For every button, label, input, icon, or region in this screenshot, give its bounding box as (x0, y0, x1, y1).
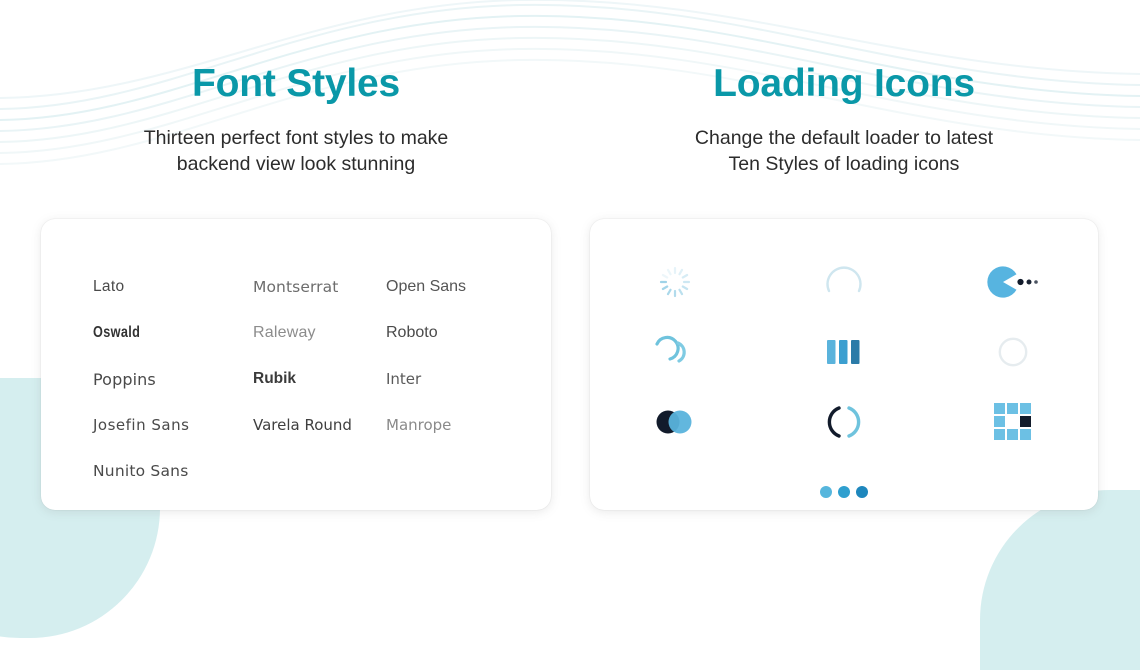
subtitle-line-1: Thirteen perfect font styles to make (144, 127, 449, 149)
font-styles-card: Lato Montserrat Open Sans Oswald Raleway… (41, 219, 551, 510)
grid-tiles-spinner-glyph (994, 403, 1032, 441)
tick-spinner-glyph (658, 265, 692, 299)
font-item-rubik[interactable]: Rubik (253, 370, 386, 388)
font-item-oswald[interactable]: Oswald (93, 324, 224, 342)
subtitle-line-2: Ten Styles of loading icons (729, 153, 960, 175)
font-item-josefin-sans[interactable]: Josefin Sans (93, 416, 253, 434)
page-root: Font Styles Thirteen perfect font styles… (0, 0, 1140, 578)
font-item-manrope[interactable]: Manrope (386, 416, 551, 434)
subtitle-loading-icons: Change the default loader to latest Ten … (590, 125, 1098, 178)
font-item-raleway[interactable]: Raleway (253, 324, 386, 342)
font-item-nunito-sans[interactable]: Nunito Sans (93, 462, 253, 480)
loading-icons-grid (590, 219, 1098, 527)
page-title-font-styles: Font Styles (41, 62, 551, 107)
font-item-poppins[interactable]: Poppins (93, 370, 253, 389)
circle-outline-spinner-glyph (996, 335, 1030, 369)
section-loading-icons: Loading Icons Change the default loader … (590, 0, 1098, 177)
font-item-open-sans[interactable]: Open Sans (386, 278, 551, 296)
loading-icons-card (590, 219, 1098, 510)
facing-arcs-spinner-icon[interactable] (809, 387, 879, 457)
font-item-varela-round[interactable]: Varela Round (253, 416, 386, 434)
three-bars-spinner-glyph (824, 335, 864, 369)
facing-arcs-spinner-glyph (822, 403, 866, 441)
section-font-styles: Font Styles Thirteen perfect font styles… (41, 0, 551, 177)
three-bars-spinner-icon[interactable] (809, 317, 879, 387)
subtitle-font-styles: Thirteen perfect font styles to make bac… (41, 125, 551, 178)
dual-crescent-spinner-icon[interactable] (640, 317, 710, 387)
font-item-montserrat[interactable]: Montserrat (253, 278, 386, 296)
font-item-lato[interactable]: Lato (93, 278, 253, 296)
overlapping-circles-spinner-icon[interactable] (640, 387, 710, 457)
three-dots-spinner-glyph (818, 482, 870, 502)
page-title-loading-icons: Loading Icons (590, 62, 1098, 107)
font-item-inter[interactable]: Inter (386, 370, 551, 388)
dual-crescent-spinner-glyph (651, 335, 699, 369)
circle-outline-spinner-icon[interactable] (978, 317, 1048, 387)
arc-ring-spinner-glyph (824, 262, 864, 302)
overlapping-circles-spinner-glyph (651, 405, 699, 439)
pacman-dots-spinner-icon[interactable] (978, 247, 1048, 317)
grid-tiles-spinner-icon[interactable] (978, 387, 1048, 457)
subtitle-line-1: Change the default loader to latest (695, 127, 993, 149)
three-dots-spinner-icon[interactable] (809, 457, 879, 527)
tick-spinner-icon[interactable] (640, 247, 710, 317)
subtitle-line-2: backend view look stunning (177, 153, 416, 175)
font-item-roboto[interactable]: Roboto (386, 324, 551, 342)
font-list-grid: Lato Montserrat Open Sans Oswald Raleway… (41, 219, 551, 494)
arc-ring-spinner-icon[interactable] (809, 247, 879, 317)
pacman-dots-spinner-glyph (986, 265, 1040, 299)
